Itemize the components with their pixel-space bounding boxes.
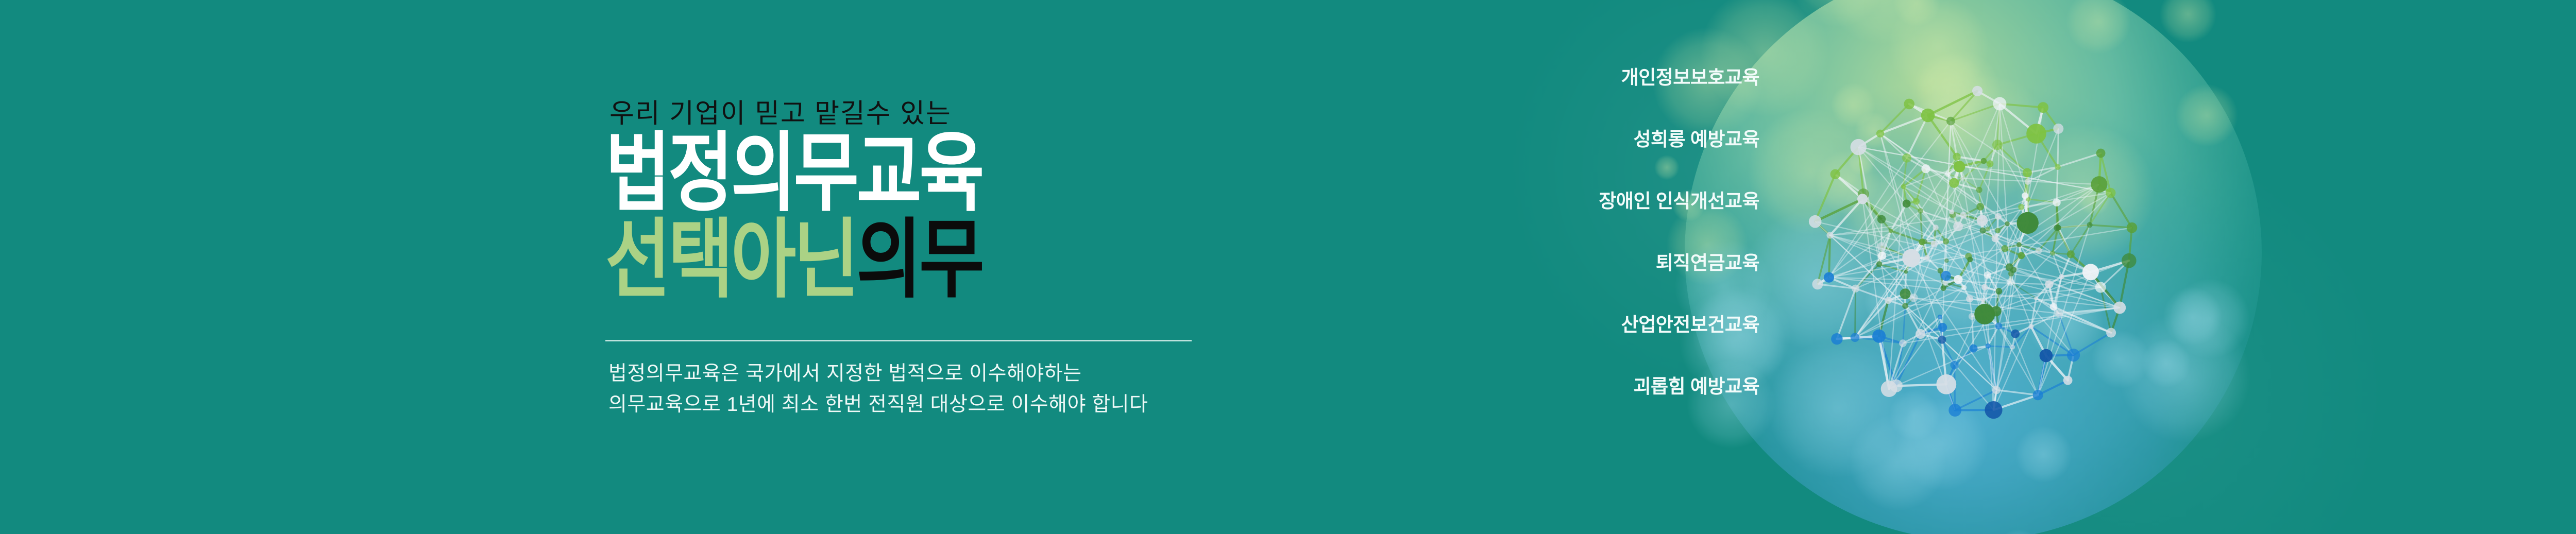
hero-subtitle-line1: 법정의무교육은 국가에서 지정한 법적으로 이수해야하는	[608, 357, 1081, 386]
globe-label-list: 개인정보보호교육성희롱 예방교육장애인 인식개선교육퇴직연금교육산업안전보건교육…	[1340, 0, 1759, 534]
hero-divider	[605, 340, 1192, 341]
hero-subtitle-line2: 의무교육으로 1년에 최소 한번 전직원 대상으로 이수해야 합니다	[608, 388, 1148, 417]
globe-label-4: 퇴직연금교육	[1656, 247, 1759, 275]
globe-label-2: 성희롱 예방교육	[1633, 124, 1759, 151]
hero-text-block: 우리 기업이 믿고 맡길수 있는 법정의무교육 선택아닌의무 법정의무교육은 국…	[605, 0, 1327, 534]
promo-banner: 우리 기업이 믿고 맡길수 있는 법정의무교육 선택아닌의무 법정의무교육은 국…	[0, 0, 2576, 534]
globe-label-6: 괴롭힘 예방교육	[1633, 371, 1759, 399]
hero-headline-green: 선택아닌	[605, 211, 856, 308]
hero-headline-black: 의무	[856, 211, 982, 308]
globe-label-3: 장애인 인식개선교육	[1599, 185, 1759, 213]
globe-label-5: 산업안전보건교육	[1621, 309, 1759, 337]
hero-headline-line1: 법정의무교육	[605, 130, 982, 216]
hero-headline-line2: 선택아닌의무	[605, 216, 982, 303]
globe-label-1: 개인정보보호교육	[1621, 62, 1759, 90]
